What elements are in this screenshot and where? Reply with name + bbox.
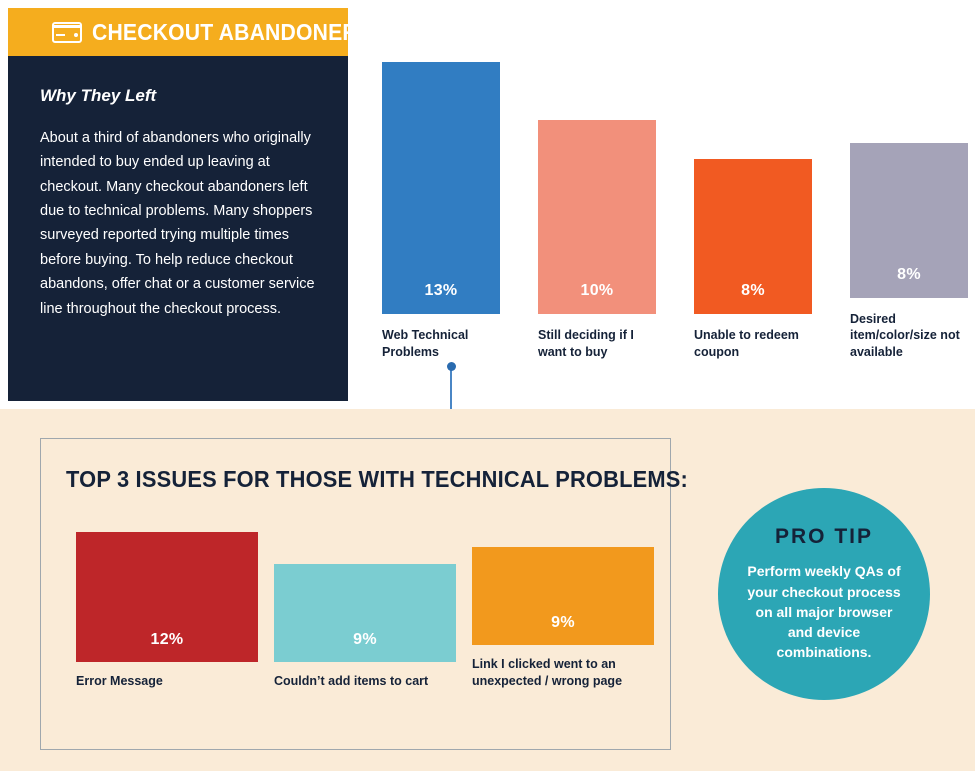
why-they-left-body: About a third of abandoners who original… xyxy=(40,126,318,321)
top-bar-column: 8%Unable to redeem coupon xyxy=(694,159,812,360)
pro-tip-badge: PRO TIP Perform weekly QAs of your check… xyxy=(718,488,930,700)
top-bar-column: 13%Web Technical Problems xyxy=(382,62,500,360)
pro-tip-title: PRO TIP xyxy=(775,525,873,549)
top-bar-label: Unable to redeem coupon xyxy=(694,327,812,360)
top-bar-column: 8%Desired item/color/size not available xyxy=(850,143,968,361)
top-bar: 10% xyxy=(538,120,656,314)
bottom-bar-label: Couldn’t add items to cart xyxy=(274,673,456,690)
bottom-bar-label: Error Message xyxy=(76,673,258,690)
credit-card-icon xyxy=(52,22,82,43)
top-bar: 8% xyxy=(850,143,968,298)
bottom-bar-value: 12% xyxy=(151,631,184,649)
bottom-bar-column: 12%Error Message xyxy=(76,532,258,690)
bottom-bar-column: 9%Couldn’t add items to cart xyxy=(274,564,456,690)
connector-dot-top xyxy=(447,362,456,371)
issues-title: TOP 3 ISSUES FOR THOSE WITH TECHNICAL PR… xyxy=(66,466,688,493)
bottom-bar-chart: 12%Error Message9%Couldn’t add items to … xyxy=(76,520,656,690)
checkout-abandoners-header: CHECKOUT ABANDONERS xyxy=(8,8,348,56)
bottom-bar-label: Link I clicked went to an unexpected / w… xyxy=(472,656,654,690)
pro-tip-body: Perform weekly QAs of your checkout proc… xyxy=(744,561,904,662)
top-bar-label: Desired item/color/size not available xyxy=(850,311,968,361)
top-bar-chart: 13%Web Technical Problems10%Still decidi… xyxy=(382,40,967,360)
bottom-bar: 12% xyxy=(76,532,258,662)
infographic-root: CHECKOUT ABANDONERS Why They Left About … xyxy=(0,0,975,771)
bottom-bar-value: 9% xyxy=(353,631,377,649)
top-bar-label: Web Technical Problems xyxy=(382,327,500,360)
top-bar-value: 13% xyxy=(425,282,458,300)
top-bar-value: 10% xyxy=(581,282,614,300)
bottom-bar: 9% xyxy=(472,547,654,645)
top-bar: 13% xyxy=(382,62,500,314)
top-bar-value: 8% xyxy=(741,282,765,300)
why-they-left-title: Why They Left xyxy=(40,86,318,106)
bottom-bar-value: 9% xyxy=(551,614,575,632)
why-they-left-panel: Why They Left About a third of abandoner… xyxy=(8,56,348,401)
top-bar-column: 10%Still deciding if I want to buy xyxy=(538,120,656,360)
header-title: CHECKOUT ABANDONERS xyxy=(92,19,372,46)
top-bar-label: Still deciding if I want to buy xyxy=(538,327,656,360)
top-bar: 8% xyxy=(694,159,812,314)
bottom-bar-column: 9%Link I clicked went to an unexpected /… xyxy=(472,547,654,690)
bottom-bar: 9% xyxy=(274,564,456,662)
top-bar-value: 8% xyxy=(897,266,921,284)
